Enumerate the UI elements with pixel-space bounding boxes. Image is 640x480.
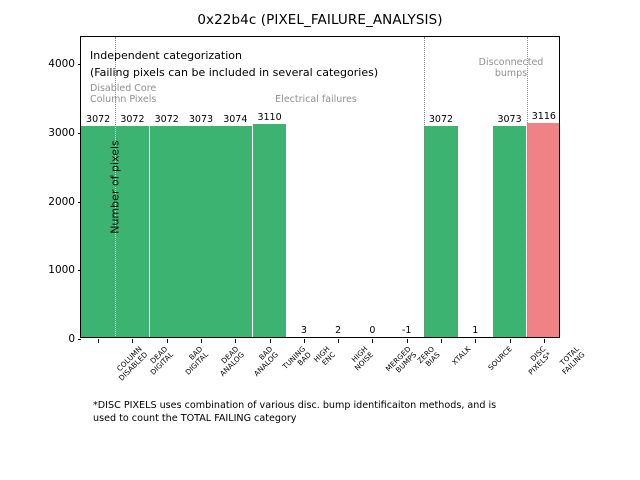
group-separator — [424, 37, 425, 337]
x-tick-mark — [132, 339, 133, 343]
annotation-group-line1: Disabled Core — [90, 83, 156, 94]
bar-value-label: 3073 — [184, 114, 218, 125]
bar-bad-digital — [150, 126, 184, 337]
annotation-group-line2: bumps — [495, 68, 527, 79]
y-tick-label: 0 — [7, 333, 75, 345]
footnote: *DISC PIXELS uses combination of various… — [93, 400, 563, 425]
y-tick-mark — [78, 270, 82, 271]
annotation-headline-line1: Independent categorization — [90, 49, 242, 62]
x-tick-label: TOTALFAILING — [555, 345, 587, 377]
x-tick-mark — [304, 339, 305, 343]
x-tick-label: HIGHNOISE — [348, 345, 376, 373]
x-tick-label: XTALK — [451, 345, 473, 367]
bar-value-label: 2 — [321, 325, 355, 336]
x-tick-label: DEADDIGITAL — [144, 345, 176, 377]
y-tick-mark — [78, 202, 82, 203]
y-tick-label: 3000 — [7, 127, 75, 139]
x-tick-mark — [475, 339, 476, 343]
annotation-group-line1: Disconnected — [479, 57, 544, 68]
x-tick-label: BADANALOG — [247, 345, 280, 378]
group-separator — [527, 37, 528, 337]
bar-value-label: 1 — [458, 325, 492, 336]
annotation-group-electrical-failures: Electrical failures — [231, 94, 401, 105]
x-tick-mark — [270, 339, 271, 343]
x-tick-label: BADDIGITAL — [178, 345, 210, 377]
x-tick-label: MERGEDBUMPS — [385, 345, 419, 379]
bar-value-label: 3072 — [150, 114, 184, 125]
y-axis-label: Number of pixels — [109, 67, 122, 307]
x-tick-label: ZEROBIAS — [416, 345, 442, 371]
bar-disc-pixels — [493, 126, 527, 337]
x-tick-mark — [372, 339, 373, 343]
x-tick-label: TUNINGBAD — [281, 345, 313, 377]
chart-title: 0x22b4c (PIXEL_FAILURE_ANALYSIS) — [0, 12, 640, 28]
y-tick-label: 4000 — [7, 58, 75, 70]
bar-total-failing — [527, 123, 559, 337]
footnote-line2: used to count the TOTAL FAILING category — [93, 413, 296, 424]
bar-tuning-bad — [253, 124, 287, 337]
x-tick-mark — [544, 339, 545, 343]
annotation-group-disconnected-bumps: Disconnected bumps — [451, 57, 571, 79]
x-tick-mark — [167, 339, 168, 343]
x-tick-mark — [338, 339, 339, 343]
bar-value-label: 3074 — [218, 114, 252, 125]
y-tick-mark — [78, 133, 82, 134]
x-tick-mark — [407, 339, 408, 343]
x-tick-mark — [441, 339, 442, 343]
x-tick-label: DISCPIXELS* — [521, 345, 553, 377]
x-tick-label: SOURCE — [487, 345, 514, 372]
bar-value-label: 3073 — [492, 114, 526, 125]
x-tick-mark — [235, 339, 236, 343]
y-tick-label: 2000 — [7, 196, 75, 208]
y-tick-mark — [78, 64, 82, 65]
bar-value-label: 3116 — [527, 111, 561, 122]
bar-value-label: -1 — [390, 325, 424, 336]
x-tick-label: DEADANALOG — [213, 345, 246, 378]
x-tick-label-line1: SOURCE — [486, 344, 514, 372]
annotation-group-line2: Column Pixels — [90, 94, 156, 105]
bar-xtalk — [424, 126, 458, 337]
x-tick-mark — [98, 339, 99, 343]
bar-bad-analog — [218, 126, 252, 337]
bar-value-label: 0 — [355, 325, 389, 336]
bar-value-label: 3072 — [424, 114, 458, 125]
bars-layer — [81, 37, 559, 337]
x-tick-label-line1: XTALK — [450, 344, 472, 366]
y-tick-label: 1000 — [7, 264, 75, 276]
annotation-headline-line2: (Failing pixels can be included in sever… — [90, 66, 378, 79]
bar-value-label: 3110 — [252, 112, 286, 123]
plot-area: 307230723072307330743110320-130721307331… — [80, 36, 560, 338]
x-tick-label: HIGHENC — [312, 345, 337, 370]
y-tick-mark — [78, 339, 82, 340]
bar-dead-analog — [184, 126, 218, 337]
footnote-line1: *DISC PIXELS uses combination of various… — [93, 400, 496, 411]
bar-value-label: 3 — [287, 325, 321, 336]
x-tick-mark — [510, 339, 511, 343]
x-tick-mark — [201, 339, 202, 343]
annotation-group-disabled-core-column-pixels: Disabled Core Column Pixels — [90, 83, 156, 105]
annotation-group-line1: Electrical failures — [275, 94, 357, 105]
pixel-failure-analysis-figure: 0x22b4c (PIXEL_FAILURE_ANALYSIS) 3072307… — [0, 0, 640, 480]
